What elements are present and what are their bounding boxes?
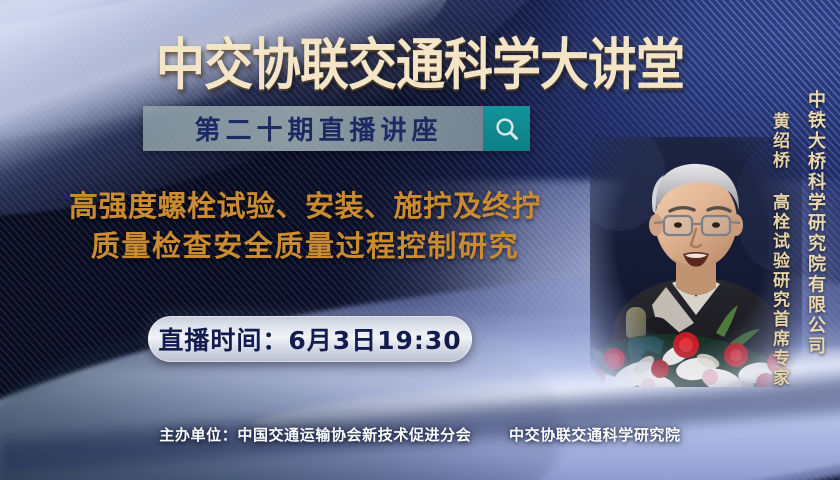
speaker-organization: 中铁大桥科学研究院有限公司 <box>802 90 828 357</box>
poster-canvas: 中交协联交通科学大讲堂 第二十期直播讲座 高强度螺栓试验、安装、施拧及终拧 质量… <box>0 0 840 480</box>
lecture-title-line-2: 质量检查安全质量过程控制研究 <box>12 226 598 266</box>
page-title: 中交协联交通科学大讲堂 <box>0 20 840 101</box>
speaker-name-and-role: 黄绍桥 高栓试验研究首席专家 <box>767 112 792 388</box>
search-button[interactable] <box>483 106 530 151</box>
lecture-title: 高强度螺栓试验、安装、施拧及终拧 质量检查安全质量过程控制研究 <box>12 186 598 266</box>
episode-label: 第二十期直播讲座 <box>143 106 483 151</box>
footer-organizer: 主办单位：中国交通运输协会新技术促进分会 <box>159 426 471 444</box>
footer: 主办单位：中国交通运输协会新技术促进分会 中交协联交通科学研究院 <box>0 424 840 445</box>
footer-institute: 中交协联交通科学研究院 <box>509 426 681 444</box>
search-icon <box>494 116 520 142</box>
lecture-title-line-1: 高强度螺栓试验、安装、施拧及终拧 <box>12 186 598 226</box>
live-time-badge: 直播时间：6月3日19:30 <box>148 316 472 362</box>
episode-banner: 第二十期直播讲座 <box>143 106 530 151</box>
